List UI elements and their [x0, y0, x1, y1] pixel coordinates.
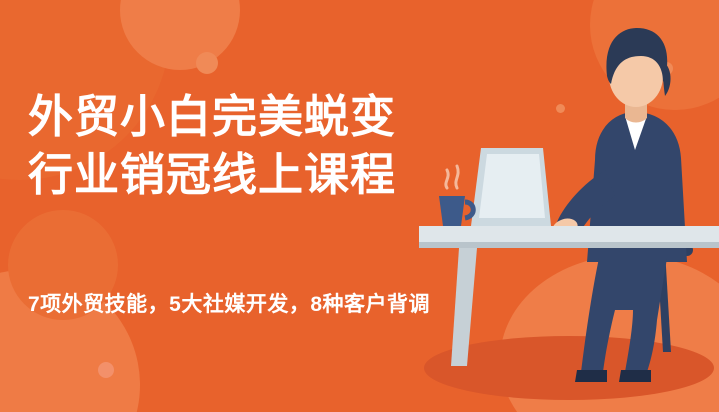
desk-top [419, 226, 719, 242]
page-title: 外贸小白完美蜕变 行业销冠线上课程 [28, 88, 548, 203]
course-promo-poster: 外贸小白完美蜕变 行业销冠线上课程 7项外贸技能，5大社媒开发，8种客户背调 [0, 0, 719, 412]
subtitle: 7项外贸技能，5大社媒开发，8种客户背调 [28, 288, 588, 318]
background-dot-a [196, 52, 218, 74]
headline-line-1: 外贸小白完美蜕变 [28, 91, 396, 142]
cup-handle [465, 202, 473, 218]
desk-edge [419, 242, 719, 248]
woman-working-at-laptop-illustration [419, 0, 719, 412]
shoe-right [619, 370, 651, 382]
shoe-left [575, 370, 607, 382]
background-dot-d [98, 362, 114, 378]
headline-line-2: 行业销冠线上课程 [28, 146, 548, 204]
